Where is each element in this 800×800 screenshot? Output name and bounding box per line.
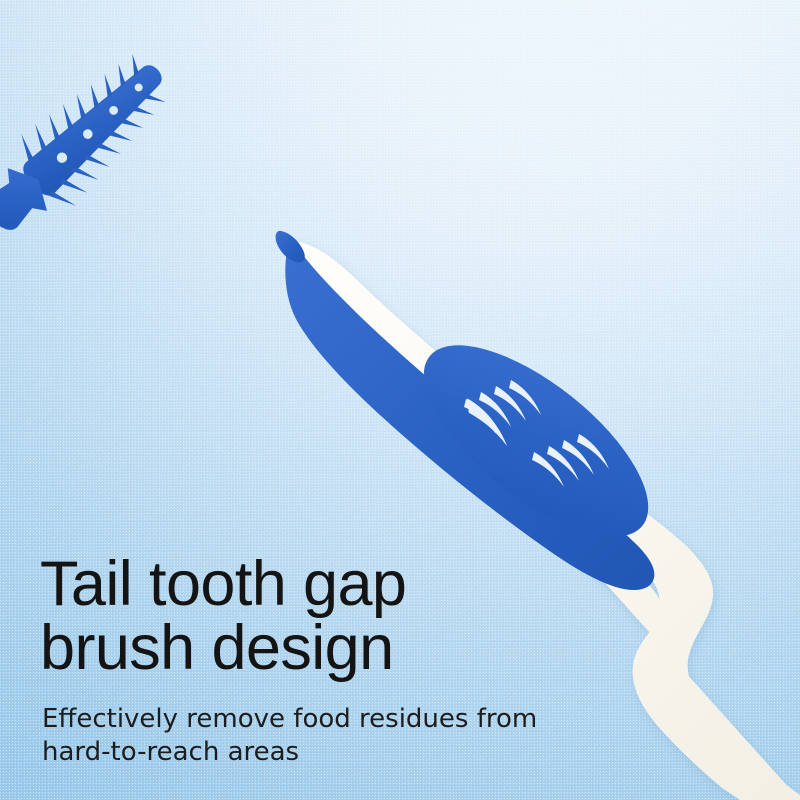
brush-head (0, 37, 188, 254)
text-block: Tail tooth gap brush design Effectively … (40, 552, 560, 770)
poster-canvas: Tail tooth gap brush design Effectively … (0, 0, 800, 800)
neck-blue-stub (276, 231, 305, 262)
subheadline: Effectively remove food residues from ha… (42, 703, 560, 771)
headline: Tail tooth gap brush design (40, 552, 560, 681)
